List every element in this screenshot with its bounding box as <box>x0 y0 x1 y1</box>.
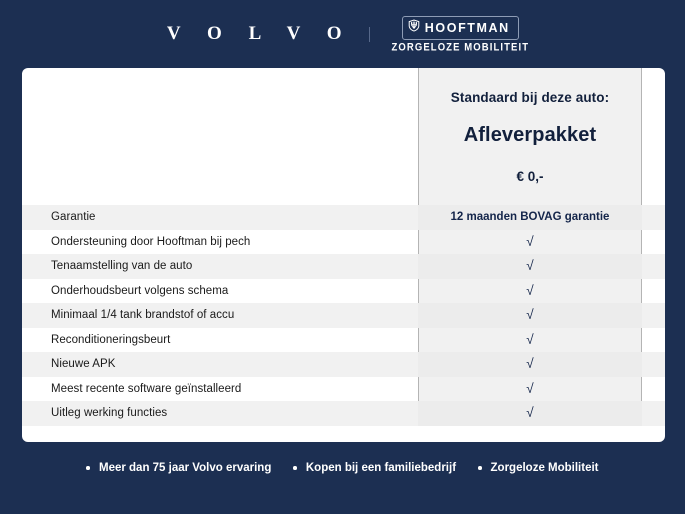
hooftman-name: HOOFTMAN <box>425 21 510 35</box>
brand-header: V O L V O HOOFTMAN ZORGELOZE MOBILITEIT <box>0 0 685 68</box>
feature-check-icon: √ <box>418 230 642 255</box>
feature-value: 12 maanden BOVAG garantie <box>418 205 642 230</box>
feature-check-icon: √ <box>418 254 642 279</box>
feature-check-icon: √ <box>418 328 642 353</box>
feature-label: Ondersteuning door Hooftman bij pech <box>22 236 418 248</box>
bullet-icon <box>86 466 90 470</box>
feature-label: Tenaamstelling van de auto <box>22 260 418 272</box>
table-row: Minimaal 1/4 tank brandstof of accu √ <box>22 303 665 328</box>
shield-icon <box>408 19 420 37</box>
usp-bar: Meer dan 75 jaar Volvo ervaring Kopen bi… <box>0 462 685 474</box>
bullet-icon <box>478 466 482 470</box>
table-row: Onderhoudsbeurt volgens schema √ <box>22 279 665 304</box>
table-row: Uitleg werking functies √ <box>22 401 665 426</box>
usp-label: Kopen bij een familiebedrijf <box>306 462 456 474</box>
usp-label: Meer dan 75 jaar Volvo ervaring <box>99 462 271 474</box>
feature-label: Reconditioneringsbeurt <box>22 334 418 346</box>
feature-check-icon: √ <box>418 401 642 426</box>
usp-label: Zorgeloze Mobiliteit <box>491 462 599 474</box>
feature-table: Garantie 12 maanden BOVAG garantie Onder… <box>22 205 665 426</box>
feature-label: Onderhoudsbeurt volgens schema <box>22 285 418 297</box>
bullet-icon <box>293 466 297 470</box>
feature-check-icon: √ <box>418 279 642 304</box>
usp-item: Zorgeloze Mobiliteit <box>478 462 598 474</box>
feature-check-icon: √ <box>418 352 642 377</box>
brand-separator <box>369 27 370 42</box>
feature-label: Minimaal 1/4 tank brandstof of accu <box>22 309 418 321</box>
feature-label: Uitleg werking functies <box>22 407 418 419</box>
table-row: Reconditioneringsbeurt √ <box>22 328 665 353</box>
hooftman-tagline: ZORGELOZE MOBILITEIT <box>392 41 530 54</box>
spec-card: Standaard bij deze auto: Afleverpakket €… <box>22 68 665 442</box>
feature-label: Nieuwe APK <box>22 358 418 370</box>
table-row: Nieuwe APK √ <box>22 352 665 377</box>
table-row: Meest recente software geïnstalleerd √ <box>22 377 665 402</box>
usp-item: Kopen bij een familiebedrijf <box>293 462 456 474</box>
table-row: Ondersteuning door Hooftman bij pech √ <box>22 230 665 255</box>
hooftman-logo: HOOFTMAN ZORGELOZE MOBILITEIT <box>392 16 530 53</box>
usp-item: Meer dan 75 jaar Volvo ervaring <box>86 462 271 474</box>
hooftman-badge: HOOFTMAN <box>402 16 519 40</box>
feature-check-icon: √ <box>418 377 642 402</box>
volvo-wordmark: V O L V O <box>156 23 361 45</box>
table-row: Garantie 12 maanden BOVAG garantie <box>22 205 665 230</box>
table-row: Tenaamstelling van de auto √ <box>22 254 665 279</box>
feature-label: Garantie <box>22 211 418 223</box>
feature-label: Meest recente software geïnstalleerd <box>22 383 418 395</box>
feature-check-icon: √ <box>418 303 642 328</box>
